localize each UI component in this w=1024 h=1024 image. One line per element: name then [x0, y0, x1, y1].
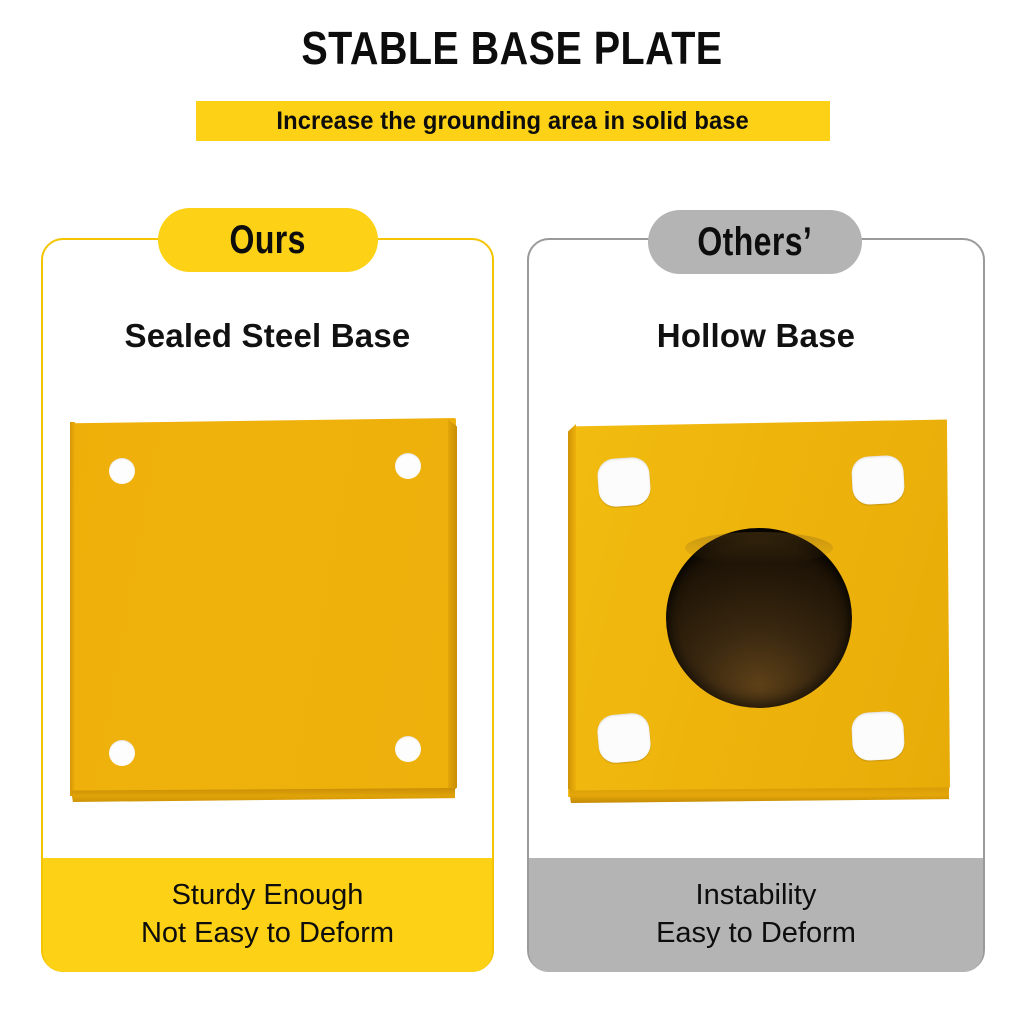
bolt-hole-bottom-right [395, 736, 421, 762]
heading-hollow-base: Hollow Base [527, 317, 985, 355]
bolt-slot-bottom-right [851, 711, 905, 762]
bolt-slot-bottom-left [596, 712, 652, 764]
bolt-hole-bottom-left [109, 740, 135, 766]
footer-others-line-2: Easy to Deform [656, 915, 856, 953]
plate-edge-left [568, 424, 576, 796]
bolt-hole-top-right [395, 453, 421, 479]
badge-ours: Ours [158, 208, 378, 272]
footer-ours-line-1: Sturdy Enough [172, 877, 364, 915]
plate-edge-right [448, 419, 457, 795]
image-sealed-steel-base-plate [70, 418, 456, 807]
badge-others: Others’ [648, 210, 862, 274]
heading-sealed-steel-base: Sealed Steel Base [41, 317, 494, 355]
page-title: STABLE BASE PLATE [72, 24, 953, 72]
plate-edge-left [70, 422, 75, 796]
image-hollow-base-plate [568, 418, 950, 808]
badge-others-label: Others’ [698, 220, 813, 265]
bolt-slot-top-right [851, 455, 905, 506]
center-hole [666, 528, 852, 708]
bolt-hole-top-left [109, 458, 135, 484]
footer-ours-line-2: Not Easy to Deform [141, 915, 394, 953]
footer-ours: Sturdy Enough Not Easy to Deform [43, 858, 492, 972]
bolt-slot-top-left [596, 456, 651, 508]
footer-others: Instability Easy to Deform [529, 858, 983, 972]
subtitle-text: Increase the grounding area in solid bas… [277, 107, 749, 136]
subtitle-banner: Increase the grounding area in solid bas… [196, 101, 830, 141]
badge-ours-label: Ours [230, 218, 306, 263]
footer-others-line-1: Instability [696, 877, 817, 915]
